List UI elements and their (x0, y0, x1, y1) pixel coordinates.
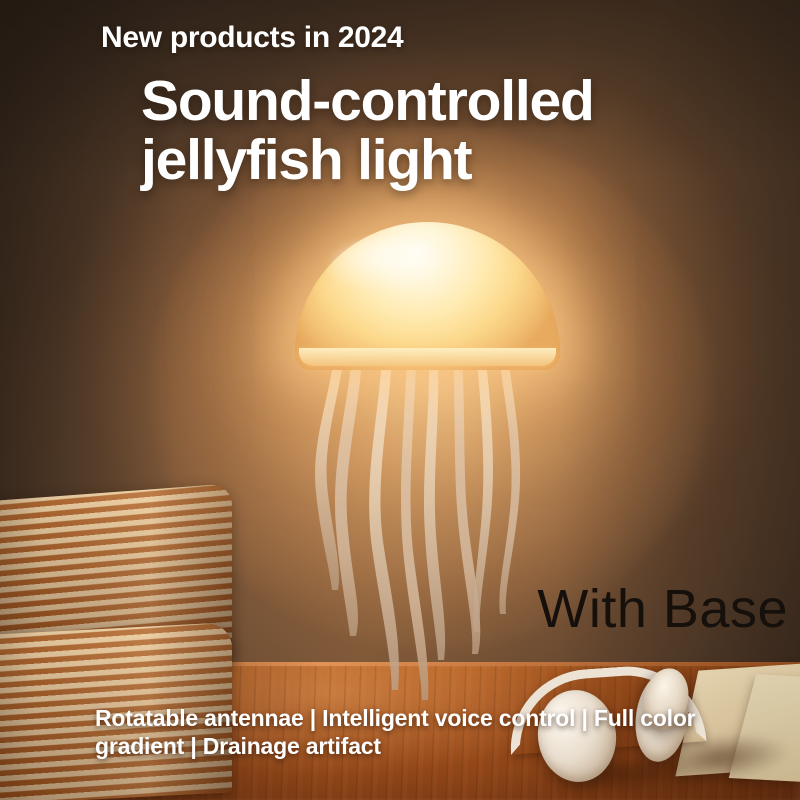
page-title: Sound-controlled jellyfish light (141, 72, 594, 189)
with-base-badge: With Base (537, 578, 788, 640)
dome-highlight (330, 238, 450, 292)
dome-base-rim (299, 348, 556, 366)
feature-list: Rotatable antennae | Intelligent voice c… (95, 704, 755, 760)
eyebrow-text: New products in 2024 (101, 21, 403, 55)
product-ad-image: New products in 2024 Sound-controlled je… (0, 0, 800, 800)
